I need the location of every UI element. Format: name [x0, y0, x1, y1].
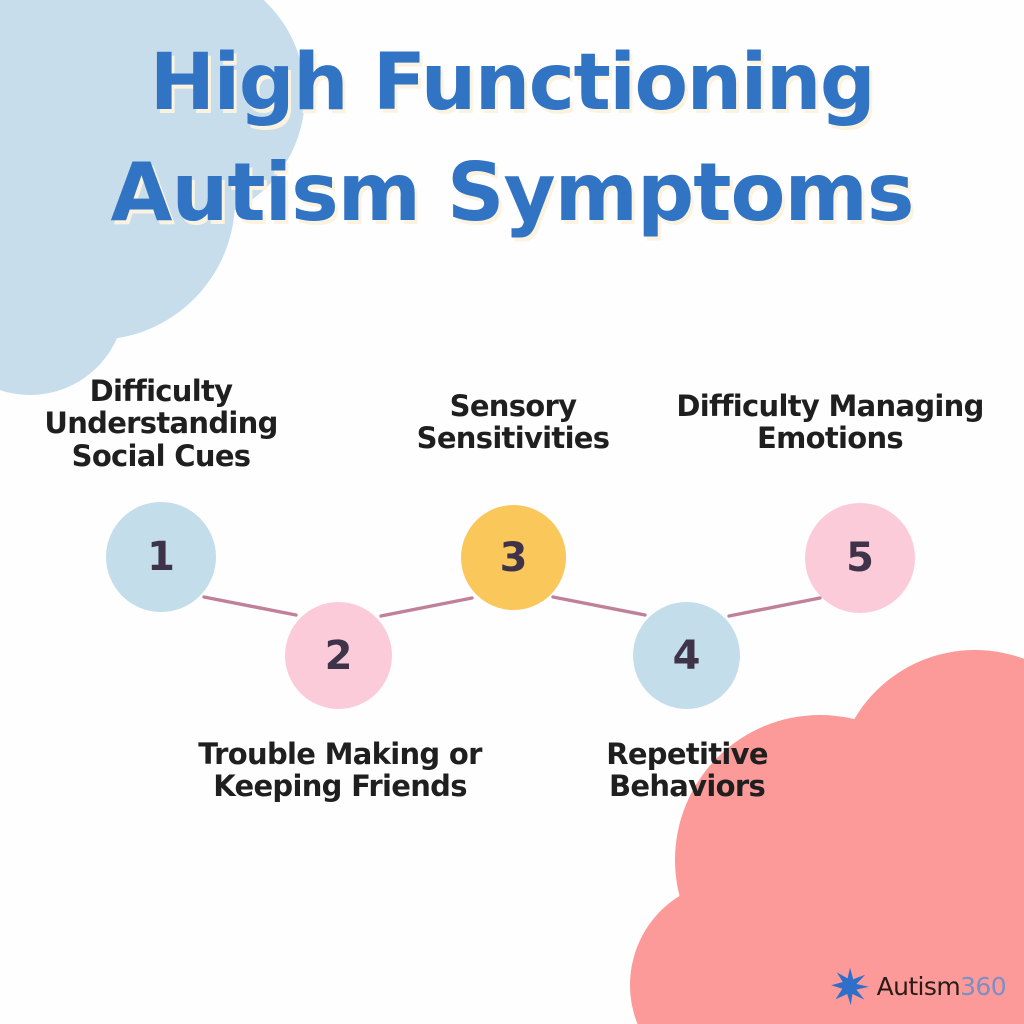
step-node-3[interactable]: 3 [461, 505, 566, 610]
logo-wordmark: Autism360 [877, 974, 1006, 999]
logo-brand-text: Autism [877, 972, 960, 1001]
step-number-2: 2 [325, 636, 353, 676]
title-line-1: High Functioning [0, 44, 1024, 124]
connector-1-2 [204, 597, 296, 615]
step-number-4: 4 [673, 636, 701, 676]
connector-2-3 [381, 598, 472, 616]
connector-3-4 [553, 597, 645, 615]
infographic-canvas: High Functioning Autism Symptoms 1 Diffi… [0, 0, 1024, 1024]
star-burst-icon [830, 966, 870, 1006]
step-number-3: 3 [500, 538, 528, 578]
logo-suffix-text: 360 [960, 972, 1006, 1001]
step-node-5[interactable]: 5 [805, 503, 915, 613]
step-node-2[interactable]: 2 [285, 602, 392, 709]
page-title: High Functioning Autism Symptoms [0, 44, 1024, 233]
connector-4-5 [729, 598, 820, 616]
step-node-1[interactable]: 1 [106, 502, 216, 612]
title-line-2: Autism Symptoms [0, 152, 1024, 234]
step-number-1: 1 [147, 537, 175, 577]
step-number-5: 5 [846, 538, 874, 578]
step-node-4[interactable]: 4 [633, 602, 740, 709]
step-label-2: Trouble Making or Keeping Friends [135, 738, 545, 803]
step-label-3: Sensory Sensitivities [363, 390, 663, 455]
brand-logo[interactable]: Autism360 [830, 966, 1006, 1006]
step-label-4: Repetitive Behaviors [562, 738, 812, 803]
step-label-5: Difficulty Managing Emotions [645, 390, 1015, 455]
step-label-1: Difficulty Understanding Social Cues [11, 375, 311, 472]
